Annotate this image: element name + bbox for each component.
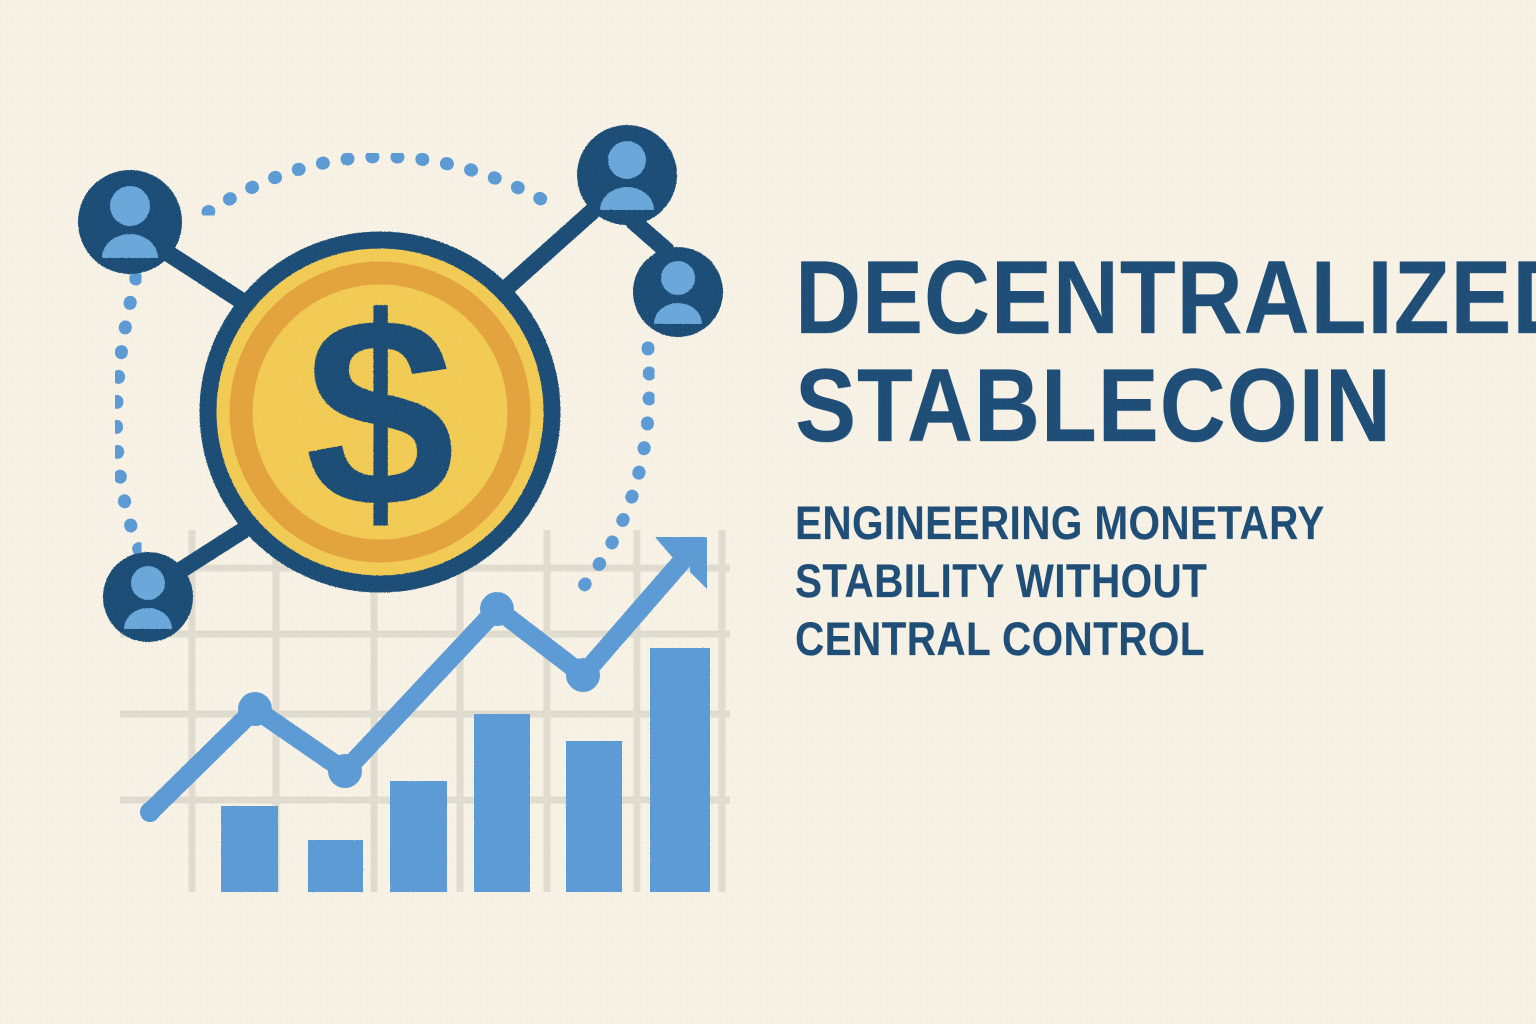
page-title-line-2: STABLECOIN [795,356,1393,458]
dollar-coin: $ [208,240,552,584]
trend-marker [328,754,362,788]
trend-marker [480,592,514,626]
headline-block: DECENTRALIZED STABLECOIN ENGINEERING MON… [795,248,1475,669]
person-icon [608,141,646,179]
edge-topright-coin [502,208,596,292]
stablecoin-illustration: $ [0,0,768,1024]
edge-topright-lower [634,222,666,250]
person-icon [131,566,165,600]
subtitle-block: ENGINEERING MONETARY STABILITY WITHOUT C… [795,494,1475,669]
bar-3 [390,781,447,892]
peer-node-bottom-left [103,552,193,642]
subtitle-line-1: ENGINEERING MONETARY [795,494,1380,552]
poster-canvas: $ [0,0,1536,1024]
trend-marker [140,802,160,822]
bar-2 [308,840,363,892]
trend-marker [566,658,600,692]
bar-5 [566,741,622,892]
bar-4 [474,714,530,892]
dotted-arc-left [116,278,140,552]
person-icon [110,186,150,226]
peer-node-right-lower [633,247,723,337]
dotted-arc-top [208,157,552,212]
bar-6 [650,648,710,892]
page-title-line-1: DECENTRALIZED [795,248,1393,350]
trend-marker [238,692,272,726]
subtitle-line-2: STABILITY WITHOUT [795,552,1380,610]
peer-node-top-right [577,125,677,225]
bar-1 [221,806,278,892]
person-icon [661,261,695,295]
dollar-sign-icon: $ [305,263,455,564]
peer-node-top-left [78,170,182,274]
subtitle-line-3: CENTRAL CONTROL [795,610,1380,668]
